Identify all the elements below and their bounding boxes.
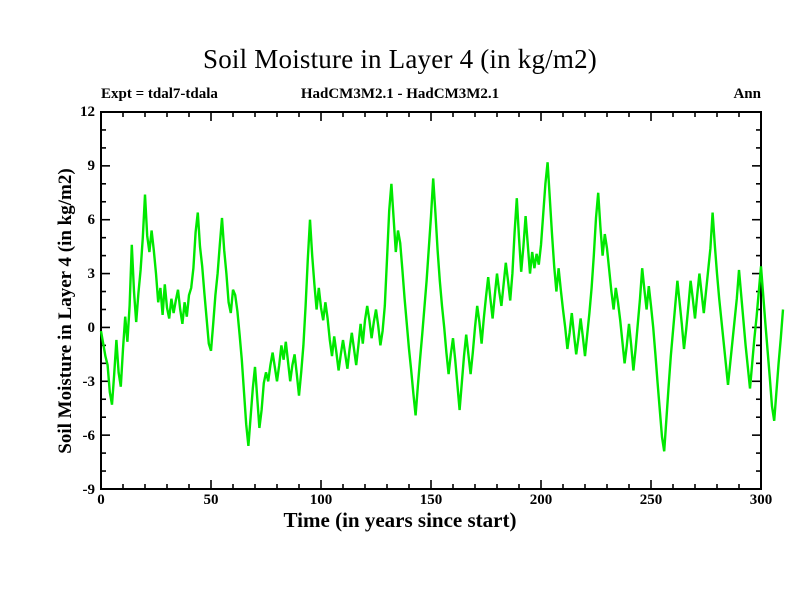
plot-area <box>0 0 800 600</box>
chart-figure: Soil Moisture in Layer 4 (in kg/m2) Expt… <box>0 0 800 600</box>
data-series-line <box>101 162 783 451</box>
